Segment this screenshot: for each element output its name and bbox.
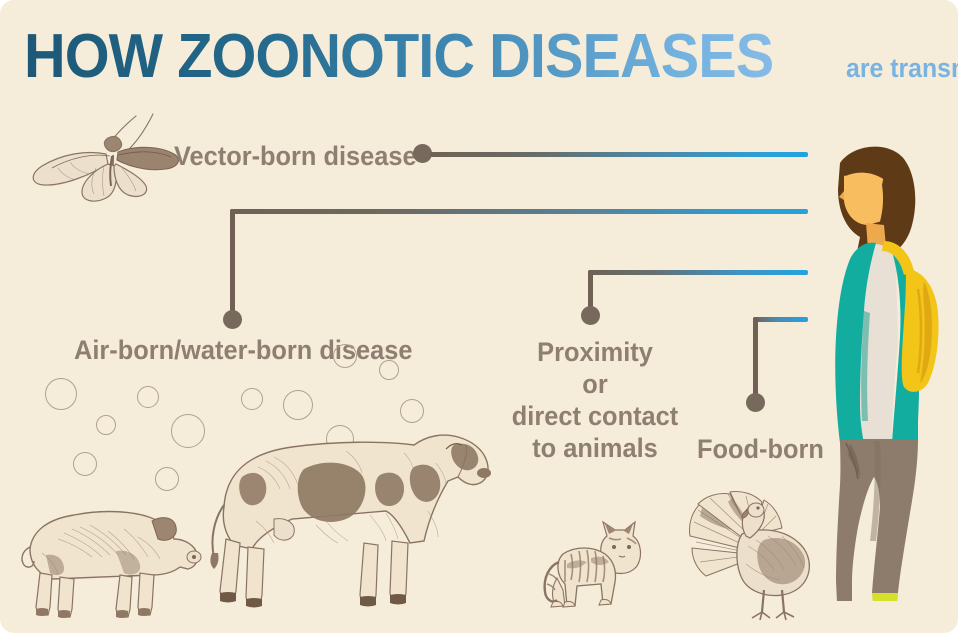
title-row: HOW ZOONOTIC DISEASES are transmitted xyxy=(24,26,958,88)
label-vector-born: Vector-born disease xyxy=(174,141,417,172)
turkey-sketch xyxy=(688,490,823,630)
bubble xyxy=(73,452,97,476)
connector-line-air-born xyxy=(230,209,808,214)
label-proximity-line-4: to animals xyxy=(503,432,687,464)
bubble xyxy=(137,386,159,408)
page-title: HOW ZOONOTIC DISEASES xyxy=(24,26,773,88)
bubble xyxy=(96,415,116,435)
label-air-born: Air-born/water-born disease xyxy=(74,335,412,366)
bubble xyxy=(379,360,399,380)
label-proximity-block: Proximity or direct contact to animals xyxy=(497,336,693,464)
connector-dot-air-born xyxy=(223,310,242,329)
cat-sketch xyxy=(541,514,651,626)
bubble xyxy=(45,378,77,410)
connector-stem-air-born xyxy=(230,209,235,321)
label-proximity-line-2: or xyxy=(503,368,687,400)
pig-sketch xyxy=(12,495,212,625)
bubble xyxy=(155,467,179,491)
infographic-canvas: HOW ZOONOTIC DISEASES are transmitted xyxy=(0,0,958,633)
label-food-born: Food-born xyxy=(697,434,824,465)
page-subtitle: are transmitted xyxy=(846,53,958,84)
moth-sketch xyxy=(18,112,183,204)
connector-dot-proximity xyxy=(581,306,600,325)
label-proximity-line-3: direct contact xyxy=(503,400,687,432)
connector-dot-food-born xyxy=(746,393,765,412)
connector-line-vector-born xyxy=(430,152,808,157)
connector-line-food-born xyxy=(753,317,808,322)
label-proximity-line-1: Proximity xyxy=(503,336,687,368)
connector-stem-food-born xyxy=(753,317,758,399)
bubble xyxy=(241,388,263,410)
person-illustration xyxy=(806,141,958,601)
bubble xyxy=(333,344,357,368)
connector-line-proximity xyxy=(588,270,808,275)
cow-sketch xyxy=(196,415,506,633)
